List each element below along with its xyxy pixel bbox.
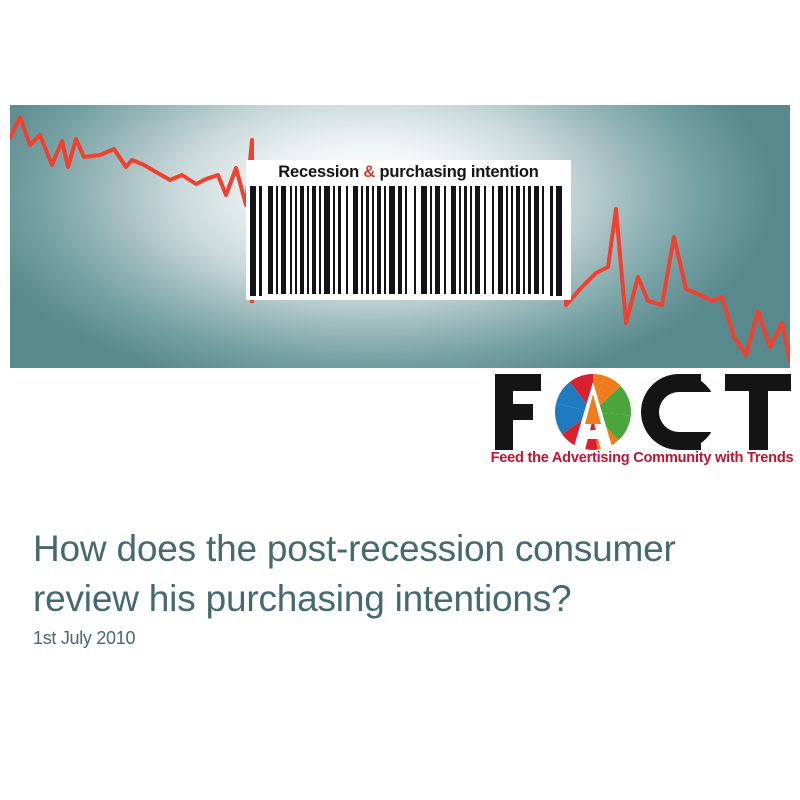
- page-title-line-2: review his purchasing intentions?: [33, 574, 763, 624]
- publication-date: 1st July 2010: [33, 628, 135, 649]
- chart-line-left: [10, 117, 252, 205]
- fact-logo: Feed the Advertising Community with Tren…: [489, 368, 795, 480]
- logo-letter-a-wheel: [549, 368, 637, 450]
- logo-letter-t: [725, 374, 791, 450]
- logo-tagline: Feed the Advertising Community with Tren…: [489, 450, 795, 466]
- barcode-title-suffix: purchasing intention: [375, 163, 539, 181]
- barcode-title: Recession & purchasing intention: [246, 163, 571, 182]
- barcode-title-prefix: Recession: [278, 163, 363, 181]
- barcode-block: Recession & purchasing intention: [246, 160, 571, 300]
- logo-letter-c: [641, 374, 721, 450]
- page-title: How does the post-recession consumer rev…: [33, 524, 763, 624]
- hero-banner: Recession & purchasing intention: [10, 105, 790, 368]
- chart-line-right: [566, 209, 790, 361]
- barcode-title-ampersand: &: [363, 163, 375, 181]
- fact-logo-mark: [489, 368, 795, 450]
- page-title-line-1: How does the post-recession consumer: [33, 524, 763, 574]
- logo-letter-f: [495, 374, 541, 450]
- barcode-bars: [246, 186, 571, 296]
